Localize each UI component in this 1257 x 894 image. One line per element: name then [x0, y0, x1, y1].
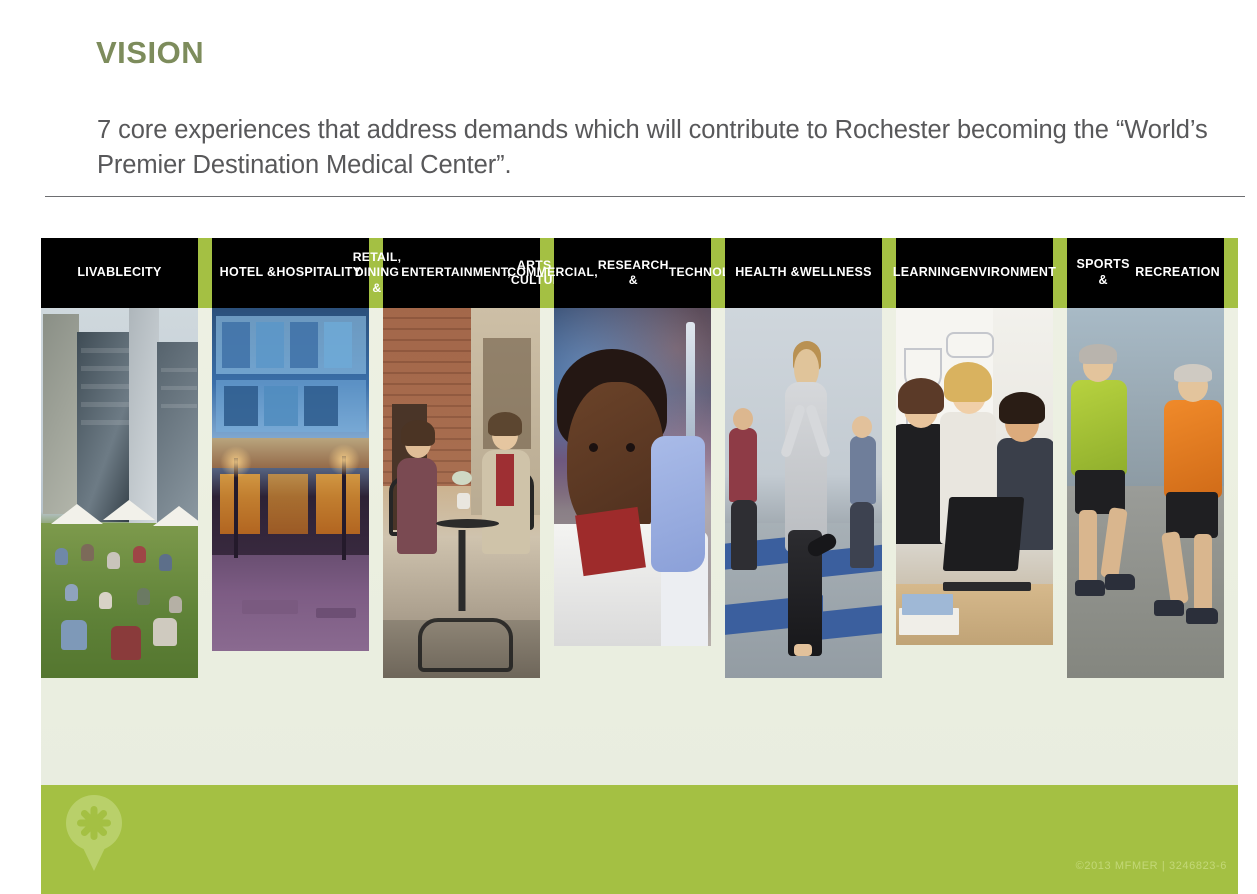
category-photo-hotel-hospitality [212, 308, 369, 651]
category-label-line: HEALTH & [735, 265, 800, 281]
category-header-sports-recreation: SPORTS & RECREATION [1067, 238, 1224, 308]
category-label-line: ENVIRONMENT [961, 265, 1057, 281]
category-header-hotel-hospitality: HOTEL & HOSPITALITY [212, 238, 369, 308]
category-photo-retail-dining [383, 308, 540, 678]
category-label-line: HOTEL & [220, 265, 277, 281]
category-photo-health-wellness [725, 308, 882, 678]
category-column-hotel-hospitality[interactable]: HOTEL & HOSPITALITY [212, 238, 369, 785]
category-header-livable-city: LIVABLE CITY [41, 238, 198, 308]
category-header-commercial-research: COMMERCIAL, RESEARCH & TECHNOLOGY [554, 238, 711, 308]
category-label-line: HOSPITALITY [276, 265, 361, 281]
category-columns: LIVABLE CITY [41, 238, 1238, 785]
category-label-line: COMMERCIAL, [507, 265, 598, 280]
title-divider [45, 196, 1245, 197]
category-column-health-wellness[interactable]: HEALTH & WELLNESS [725, 238, 882, 785]
category-label-line: SPORTS & [1071, 257, 1135, 288]
category-label-line: CITY [132, 265, 162, 281]
category-label-line: LIVABLE [77, 265, 132, 281]
category-column-livable-city[interactable]: LIVABLE CITY [41, 238, 198, 785]
category-photo-sports-recreation [1067, 308, 1224, 678]
page-title: VISION [96, 36, 204, 70]
category-photo-commercial-research [554, 308, 711, 646]
category-label-line: WELLNESS [800, 265, 872, 281]
category-label-line: RESEARCH & [598, 258, 669, 289]
category-label-line: RECREATION [1135, 265, 1220, 281]
category-header-learning-environment: LEARNING ENVIRONMENT [896, 238, 1053, 308]
category-column-sports-recreation[interactable]: SPORTS & RECREATION [1067, 238, 1224, 785]
category-column-commercial-research[interactable]: COMMERCIAL, RESEARCH & TECHNOLOGY [554, 238, 711, 785]
category-label-line: LEARNING [893, 265, 961, 281]
category-header-health-wellness: HEALTH & WELLNESS [725, 238, 882, 308]
footer-band [41, 785, 1238, 894]
copyright-credit: ©2013 MFMER | 3246823-6 [1076, 860, 1227, 872]
category-column-retail-dining[interactable]: RETAIL, DINING & ENTERTAINMENT, ARTS & C… [383, 238, 540, 785]
category-column-learning-environment[interactable]: LEARNING ENVIRONMENT [896, 238, 1053, 785]
category-photo-learning-environment [896, 308, 1053, 645]
category-photo-livable-city [41, 308, 198, 678]
category-label-line: ENTERTAINMENT, [401, 265, 511, 280]
page-subtitle: 7 core experiences that address demands … [97, 113, 1227, 183]
category-label-line: RETAIL, DINING & [353, 250, 402, 296]
map-pin-flower-logo-icon [66, 795, 122, 869]
